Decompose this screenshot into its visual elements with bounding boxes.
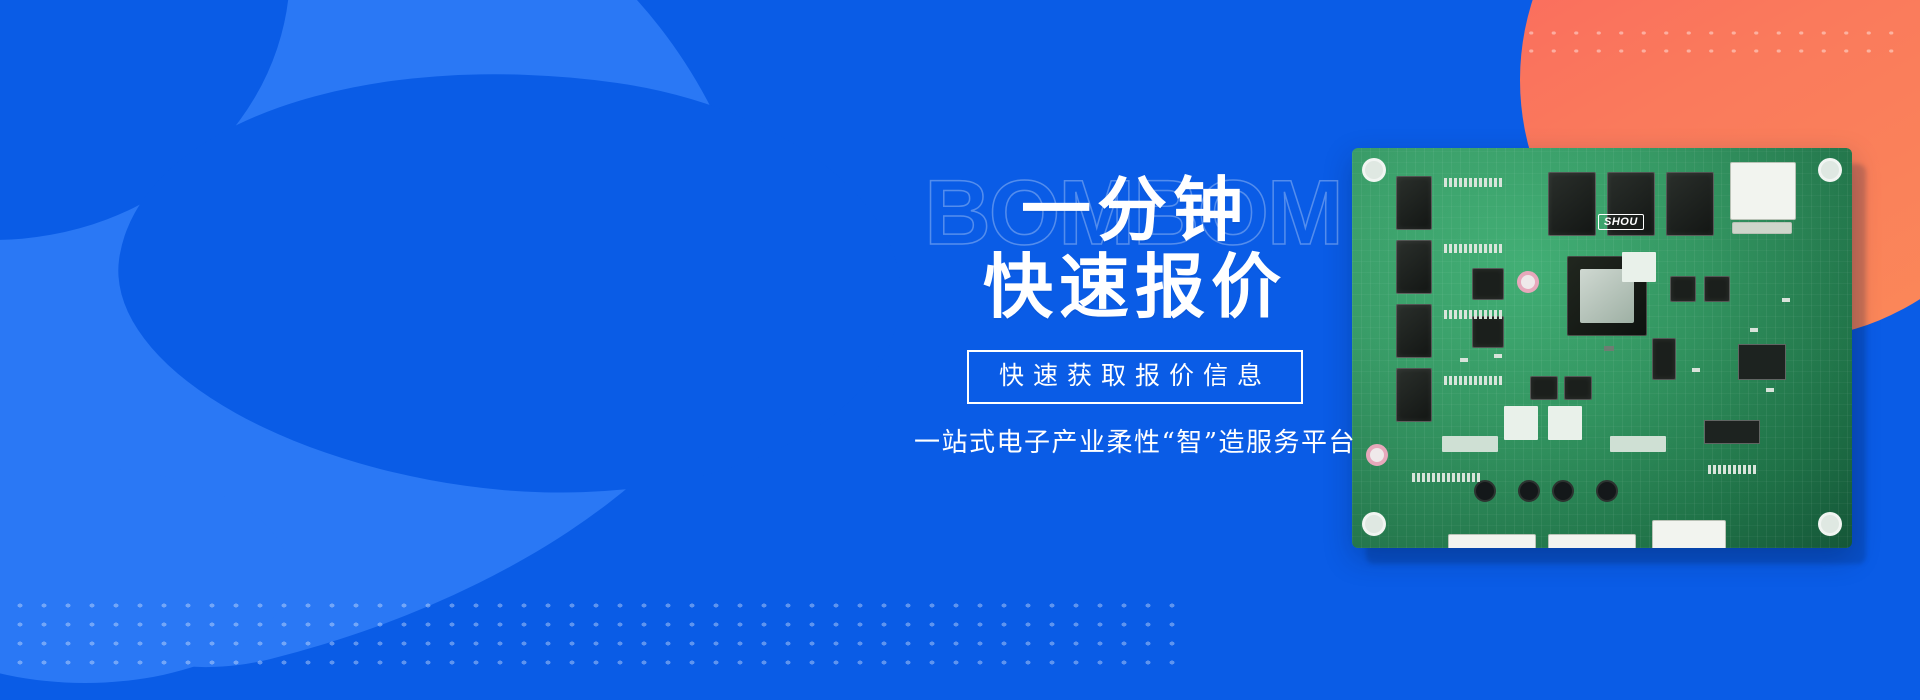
pcb-chip — [1548, 172, 1596, 236]
pcb-pad — [1610, 436, 1666, 452]
pcb-card-connector — [1730, 162, 1796, 220]
pcb-edge-connector — [1448, 534, 1536, 548]
pcb-header — [1738, 344, 1786, 380]
pcb-smd — [1782, 298, 1790, 302]
pcb-pin-row — [1444, 376, 1502, 385]
pcb-pad — [1442, 436, 1498, 452]
pcb-chip — [1704, 276, 1730, 302]
pcb-inductor — [1622, 252, 1656, 282]
pcb-smd — [1692, 368, 1700, 372]
pcb-chip — [1472, 268, 1504, 300]
pcb-smd — [1460, 358, 1468, 362]
pcb-surface: SHOU — [1352, 148, 1852, 548]
pcb-mount-hole — [1362, 512, 1386, 536]
get-quote-button[interactable]: 快速获取报价信息 — [967, 350, 1303, 404]
pcb-capacitor — [1552, 480, 1574, 502]
pcb-chip — [1472, 316, 1504, 348]
pcb-board-image: SHOU — [1352, 148, 1852, 553]
headline: 一分钟 快速报价 — [855, 175, 1415, 324]
pcb-chip — [1530, 376, 1558, 400]
pcb-chip — [1564, 376, 1592, 400]
pcb-mount-hole — [1818, 512, 1842, 536]
headline-line-2: 快速报价 — [855, 252, 1415, 323]
headline-line-1: 一分钟 — [855, 175, 1415, 246]
pcb-capacitor — [1518, 480, 1540, 502]
pcb-smd — [1750, 328, 1758, 332]
hero-banner: SHOU — [0, 0, 1920, 700]
pcb-capacitor — [1596, 480, 1618, 502]
pcb-edge-connector — [1548, 534, 1636, 548]
pcb-chip — [1670, 276, 1696, 302]
pcb-capacitor — [1474, 480, 1496, 502]
dot-grid-top-right — [1520, 24, 1910, 62]
pcb-mount-hole — [1818, 158, 1842, 182]
pcb-pin-row — [1444, 178, 1502, 187]
tagline: 一站式电子产业柔性“智”造服务平台 — [855, 422, 1415, 459]
pcb-smd — [1494, 354, 1502, 358]
pcb-smd — [1604, 346, 1614, 351]
pcb-connector-tab — [1732, 222, 1792, 234]
pcb-brand-silkscreen: SHOU — [1598, 214, 1644, 230]
pcb-smd — [1766, 388, 1774, 392]
pcb-pin-row — [1444, 310, 1502, 319]
pcb-pink-hole — [1517, 271, 1539, 293]
pcb-chip — [1666, 172, 1714, 236]
hero-copy: BOMBOM 一分钟 快速报价 快速获取报价信息 一站式电子产业柔性“智”造服务… — [855, 175, 1415, 459]
dot-grid-bottom-left — [0, 596, 1180, 672]
pcb-pin-row — [1444, 244, 1502, 253]
pcb-pin-row — [1708, 465, 1756, 474]
pcb-edge-connector — [1652, 520, 1726, 548]
pcb-chip — [1652, 338, 1676, 380]
pcb-header — [1704, 420, 1760, 444]
pcb-pin-row — [1412, 473, 1480, 482]
pcb-inductor — [1504, 406, 1538, 440]
pcb-inductor — [1548, 406, 1582, 440]
